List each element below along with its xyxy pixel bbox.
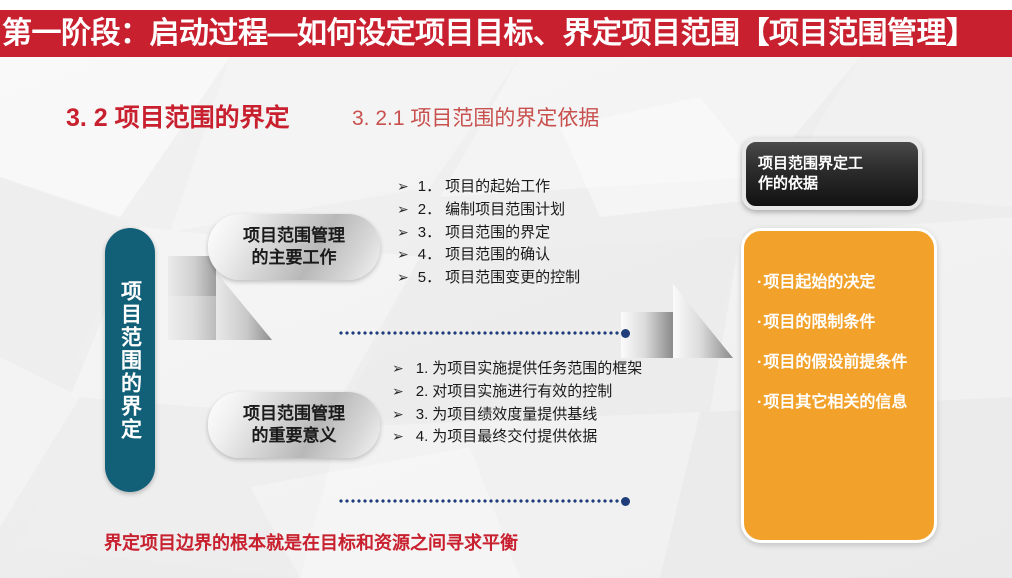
list-item-number: 2. xyxy=(416,383,433,400)
vertical-title-bar[interactable]: 项目范围的界定 xyxy=(105,228,155,492)
box-definition-basis-label: 项目范围界定工 作的依据 xyxy=(746,154,863,194)
ramp-connector-right xyxy=(621,282,743,358)
list-item-number: 1． xyxy=(418,178,445,195)
list-item-text: 对项目实施进行有效的控制 xyxy=(432,383,612,400)
section-heading: 3. 2 项目范围的界定 xyxy=(66,98,290,134)
list-item: ➢2．编制项目范围计划 xyxy=(397,199,657,222)
list-item-text: 编制项目范围计划 xyxy=(445,201,565,218)
box-importance-line2: 的重要意义 xyxy=(252,426,337,445)
box-definition-basis-line2: 作的依据 xyxy=(758,175,818,192)
bullet-arrow-icon: ➢ xyxy=(392,360,416,376)
list-item-text: 项目的限制条件 xyxy=(763,314,875,331)
dotted-connector-bottom xyxy=(338,499,626,503)
bullet-arrow-icon: ➢ xyxy=(392,383,416,399)
bullet-arrow-icon: ➢ xyxy=(397,201,418,217)
list-item: ·项目其它相关的信息 xyxy=(757,395,934,411)
list-item-text: 为项目最终交付提供依据 xyxy=(432,428,597,445)
bullet-arrow-icon: ➢ xyxy=(392,406,416,422)
header-banner: 第一阶段：启动过程—如何设定项目目标、界定项目范围【项目范围管理】 xyxy=(0,10,1012,57)
box-definition-basis[interactable]: 项目范围界定工 作的依据 xyxy=(742,138,922,210)
list-item-text: 项目的假设前提条件 xyxy=(763,354,907,371)
list-item-text: 项目其它相关的信息 xyxy=(763,394,907,411)
bullet-arrow-icon: ➢ xyxy=(397,269,418,285)
connector-end-dot xyxy=(621,329,630,338)
list-item-text: 项目范围变更的控制 xyxy=(445,269,580,286)
list-item: ·项目的限制条件 xyxy=(757,315,934,331)
connector-end-dot xyxy=(621,497,630,506)
list-item-number: 3． xyxy=(418,224,445,241)
list-item-number: 4． xyxy=(418,246,445,263)
box-definition-basis-line1: 项目范围界定工 xyxy=(758,155,863,172)
list-item: ·项目起始的决定 xyxy=(757,275,934,291)
box-importance-label: 项目范围管理 的重要意义 xyxy=(243,403,345,448)
box-main-work-line1: 项目范围管理 xyxy=(243,226,345,245)
panel-basis-items[interactable]: ·项目起始的决定 ·项目的限制条件 ·项目的假设前提条件 ·项目其它相关的信息 xyxy=(741,228,937,543)
list-item-number: 1. xyxy=(416,360,433,377)
list-item-number: 3. xyxy=(416,406,433,423)
list-item-number: 4. xyxy=(416,428,433,445)
banner-title: 第一阶段：启动过程—如何设定项目目标、界定项目范围【项目范围管理】 xyxy=(0,19,976,49)
list-item-text: 为项目绩效度量提供基线 xyxy=(432,406,597,423)
slide-canvas: 第一阶段：启动过程—如何设定项目目标、界定项目范围【项目范围管理】 3. 2 项… xyxy=(0,0,1012,578)
bullet-arrow-icon: ➢ xyxy=(397,178,418,194)
box-main-work-label: 项目范围管理 的主要工作 xyxy=(243,225,345,270)
list-item-number: 2． xyxy=(418,201,445,218)
list-item: ·项目的假设前提条件 xyxy=(757,355,934,371)
list-item: ➢1．项目的起始工作 xyxy=(397,176,657,199)
list-importance: ➢1.为项目实施提供任务范围的框架 ➢2.对项目实施进行有效的控制 ➢3.为项目… xyxy=(392,358,650,449)
list-item-text: 项目范围的确认 xyxy=(445,246,550,263)
list-item-number: 5． xyxy=(418,269,445,286)
list-item-text: 项目起始的决定 xyxy=(763,274,875,291)
dotted-connector-top xyxy=(338,331,626,335)
list-item: ➢4．项目范围的确认 xyxy=(397,244,657,267)
bullet-arrow-icon: ➢ xyxy=(397,246,418,262)
box-importance[interactable]: 项目范围管理 的重要意义 xyxy=(208,392,380,458)
list-item: ➢3．项目范围的界定 xyxy=(397,222,657,245)
subsection-heading: 3. 2.1 项目范围的界定依据 xyxy=(352,102,599,132)
footer-caption: 界定项目边界的根本就是在目标和资源之间寻求平衡 xyxy=(104,529,518,555)
box-importance-line1: 项目范围管理 xyxy=(243,404,345,423)
list-item: ➢3.为项目绩效度量提供基线 xyxy=(392,404,650,427)
list-item: ➢2.对项目实施进行有效的控制 xyxy=(392,381,650,404)
box-main-work[interactable]: 项目范围管理 的主要工作 xyxy=(208,214,380,280)
list-item: ➢4.为项目最终交付提供依据 xyxy=(392,426,650,449)
list-item: ➢1.为项目实施提供任务范围的框架 xyxy=(392,358,650,381)
vertical-title-label: 项目范围的界定 xyxy=(105,228,155,492)
bullet-arrow-icon: ➢ xyxy=(392,428,416,444)
list-main-work: ➢1．项目的起始工作 ➢2．编制项目范围计划 ➢3．项目范围的界定 ➢4．项目范… xyxy=(397,176,657,290)
list-item: ➢5．项目范围变更的控制 xyxy=(397,267,657,290)
list-item-text: 项目的起始工作 xyxy=(445,178,550,195)
box-main-work-line2: 的主要工作 xyxy=(252,248,337,267)
list-item-text: 项目范围的界定 xyxy=(445,224,550,241)
bullet-arrow-icon: ➢ xyxy=(397,224,418,240)
list-item-text: 为项目实施提供任务范围的框架 xyxy=(432,360,642,377)
